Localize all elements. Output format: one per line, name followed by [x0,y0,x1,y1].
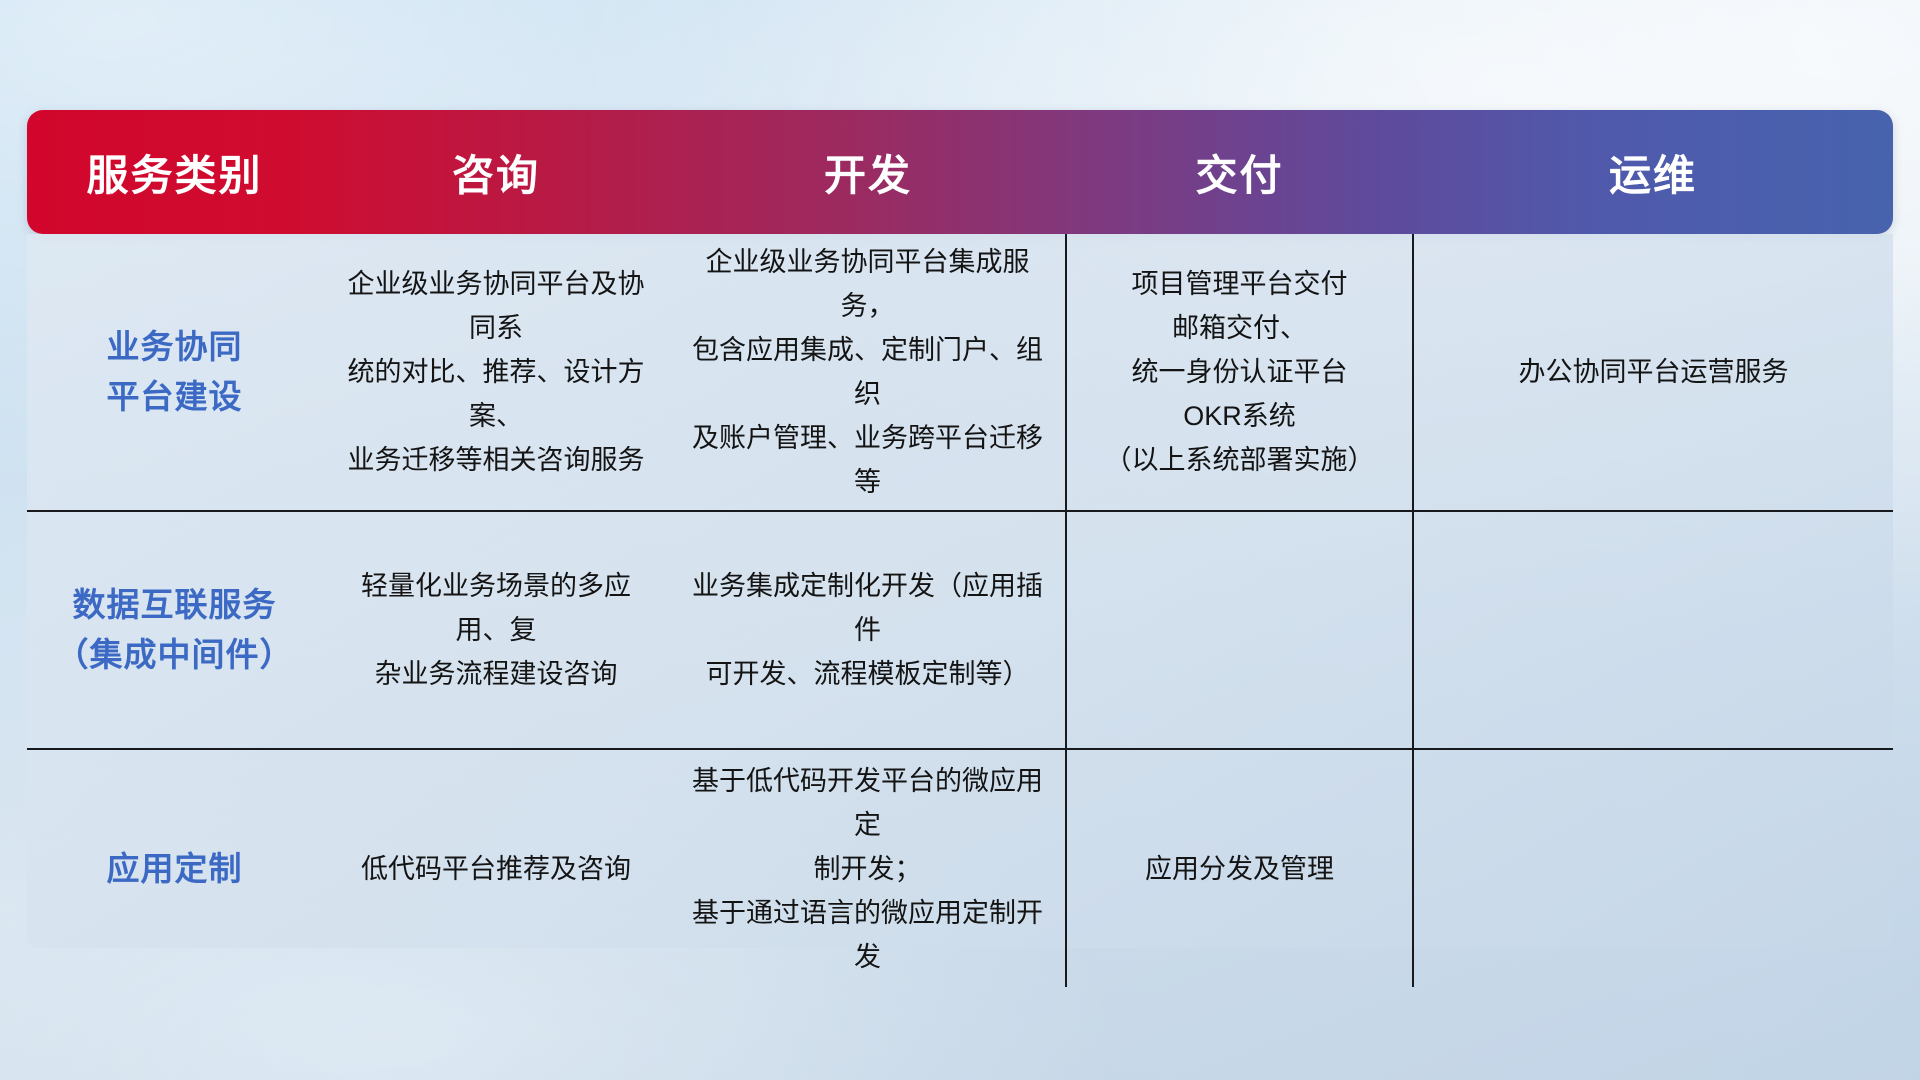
cell-r3-operations [1413,749,1893,987]
row-label-data-interconnect: 数据互联服务 （集成中间件） [27,511,322,749]
cell-r1-delivery: 项目管理平台交付 邮箱交付、 统一身份认证平台 OKR系统 （以上系统部署实施） [1066,234,1413,511]
cell-r2-operations [1413,511,1893,749]
cell-r2-development: 业务集成定制化开发（应用插件 可开发、流程模板定制等） [670,511,1066,749]
cell-r2-consulting: 轻量化业务场景的多应用、复 杂业务流程建设咨询 [322,511,670,749]
service-matrix-table: 服务类别 咨询 开发 交付 运维 业务协同 平台建设 企业级业务协同平台及协同系… [27,110,1893,987]
column-header-delivery: 交付 [1066,110,1413,234]
cell-r1-consulting: 企业级业务协同平台及协同系 统的对比、推荐、设计方案、 业务迁移等相关咨询服务 [322,234,670,511]
table-header: 服务类别 咨询 开发 交付 运维 [27,110,1893,234]
table-row: 业务协同 平台建设 企业级业务协同平台及协同系 统的对比、推荐、设计方案、 业务… [27,234,1893,511]
column-header-operations: 运维 [1413,110,1893,234]
table-body: 业务协同 平台建设 企业级业务协同平台及协同系 统的对比、推荐、设计方案、 业务… [27,234,1893,987]
table-row: 应用定制 低代码平台推荐及咨询 基于低代码开发平台的微应用定 制开发； 基于通过… [27,749,1893,987]
row-label-business-collaboration: 业务协同 平台建设 [27,234,322,511]
cell-r1-development: 企业级业务协同平台集成服务， 包含应用集成、定制门户、组织 及账户管理、业务跨平… [670,234,1066,511]
cell-r3-delivery: 应用分发及管理 [1066,749,1413,987]
row-label-app-customization: 应用定制 [27,749,322,987]
column-header-development: 开发 [670,110,1066,234]
column-header-category: 服务类别 [27,110,322,234]
table-row: 数据互联服务 （集成中间件） 轻量化业务场景的多应用、复 杂业务流程建设咨询 业… [27,511,1893,749]
service-matrix-card: 服务类别 咨询 开发 交付 运维 业务协同 平台建设 企业级业务协同平台及协同系… [27,110,1893,987]
cell-r3-consulting: 低代码平台推荐及咨询 [322,749,670,987]
header-row: 服务类别 咨询 开发 交付 运维 [27,110,1893,234]
column-header-consulting: 咨询 [322,110,670,234]
cell-r3-development: 基于低代码开发平台的微应用定 制开发； 基于通过语言的微应用定制开发 [670,749,1066,987]
cell-r2-delivery [1066,511,1413,749]
cell-r1-operations: 办公协同平台运营服务 [1413,234,1893,511]
